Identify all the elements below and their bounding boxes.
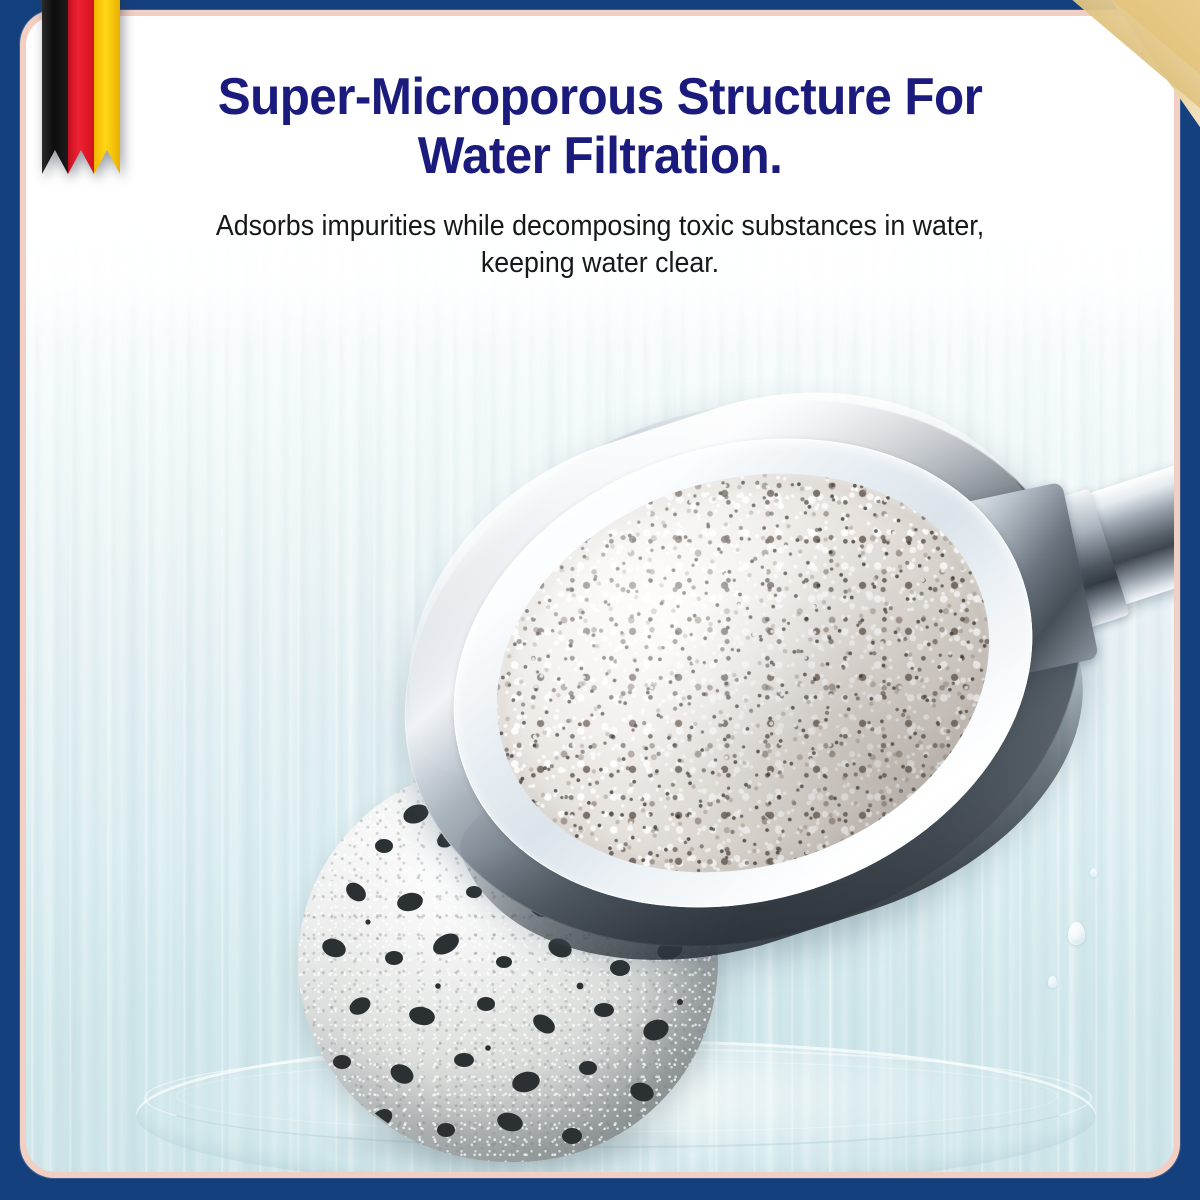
poster-photo-panel: Super-Microporous Structure For Water Fi… — [26, 16, 1174, 1172]
product-poster: Super-Microporous Structure For Water Fi… — [0, 0, 1200, 1200]
german-flag-ribbon-icon — [42, 0, 120, 174]
page-subtitle: Adsorbs impurities while decomposing tox… — [60, 186, 1139, 282]
water-droplet — [1090, 868, 1097, 877]
page-title: Super-Microporous Structure For Water Fi… — [55, 16, 1146, 186]
gold-corner-fold-icon — [1070, 0, 1200, 130]
poster-text-block: Super-Microporous Structure For Water Fi… — [26, 16, 1174, 282]
water-droplet — [1048, 976, 1057, 988]
water-droplet — [1068, 922, 1085, 945]
